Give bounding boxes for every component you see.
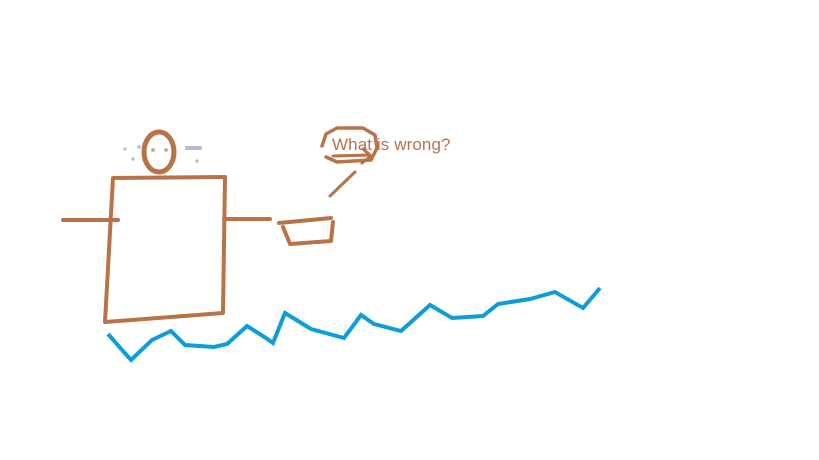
speech-bubble-text: What is wrong? bbox=[332, 135, 451, 154]
person-head-icon bbox=[144, 132, 174, 172]
sketch-surface[interactable]: What is wrong? bbox=[0, 0, 819, 460]
person-body-icon bbox=[105, 177, 225, 322]
lavender-speck-0 bbox=[123, 147, 126, 150]
sketch-canvas: What is wrong? bbox=[0, 0, 819, 460]
device-top-edge-icon bbox=[279, 218, 331, 223]
lavender-speck-2 bbox=[131, 157, 134, 160]
device-box-icon bbox=[283, 222, 333, 244]
eye-right-icon bbox=[164, 148, 168, 152]
trend-line-chart[interactable] bbox=[108, 288, 600, 360]
lavender-speck-1 bbox=[137, 145, 141, 149]
lavender-dash-icon bbox=[185, 146, 202, 150]
eye-left-icon bbox=[151, 148, 155, 152]
lavender-speck-3 bbox=[195, 159, 198, 162]
speech-bubble-pointer-line bbox=[330, 172, 355, 196]
